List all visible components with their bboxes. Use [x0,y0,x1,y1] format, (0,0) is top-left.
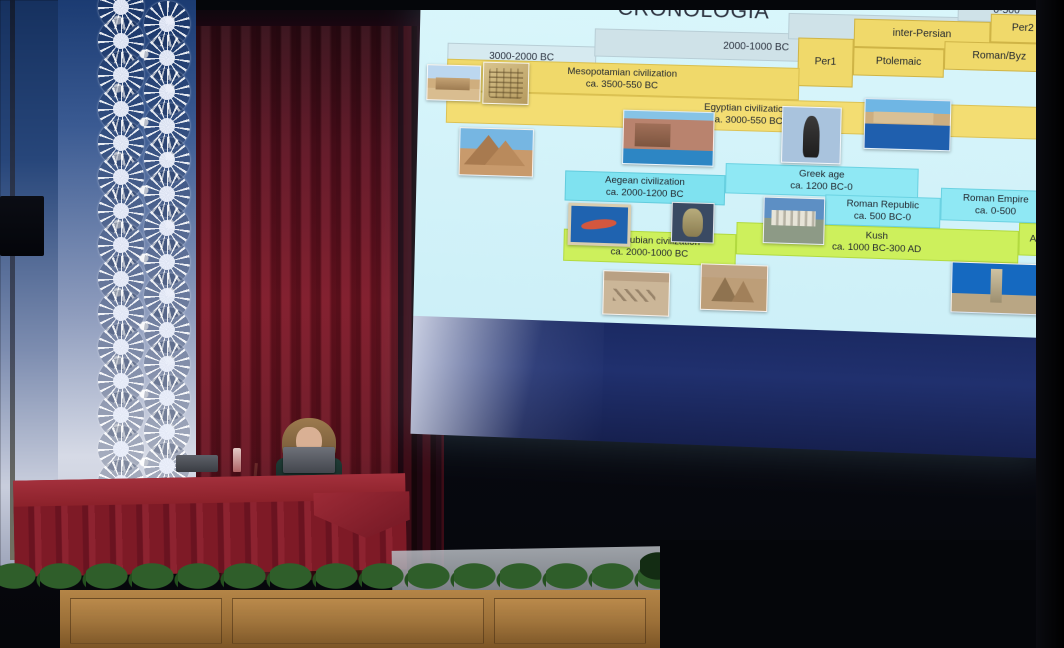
civ-date-aegean: ca. 2000-1200 BC [606,187,684,202]
parthenon-image [763,197,826,246]
wooden-stage-front [60,590,660,648]
nubian-bronze-statue-image [781,106,842,164]
presentation-slide: CRONOLOGÍA 3000-2000 BC 2000-1000 BC 100… [413,0,1056,338]
desert-excavation-image [602,270,670,317]
abu-simbel-cliff-image [622,110,715,167]
civ-date-kush: ca. 1000 BC-300 AD [832,241,922,256]
wood-panel-1 [70,598,222,644]
civ-date-mesopotamian: ca. 3500-550 BC [586,78,658,92]
projection-screen: CRONOLOGÍA 3000-2000 BC 2000-1000 BC 100… [410,0,1055,459]
meroe-pyramids-image [700,263,768,312]
civ-name-roman-empire: Roman Empire [963,192,1029,206]
minoan-dolphin-fresco-image [568,203,632,247]
decorative-lattice-column [92,0,200,480]
gold-funerary-mask-image [671,202,715,244]
water-bottle [233,448,241,472]
ceiling-speaker [0,196,44,256]
civ-date-early-nubian: ca. 2000-1000 BC [610,246,688,261]
period-cell-per1: Per1 [797,37,854,87]
second-laptop [176,455,218,472]
civ-date-greek-age: ca. 1200 BC-0 [790,180,853,194]
civ-band-greek-age: Greek age ca. 1200 BC-0 [725,163,919,199]
civ-date-egyptian: ca. 3000-550 BC [710,114,783,128]
right-dark-edge [1036,0,1064,648]
wall-trim [10,0,15,560]
period-cell-ptolemaic: Ptolemaic [853,47,944,78]
wood-panel-2 [232,598,484,644]
civ-name-kush: Kush [866,230,889,243]
laptop [283,447,335,473]
screen-lower-dark-area [410,316,1047,459]
civ-date-roman-republic: ca. 500 BC-0 [854,210,911,224]
civ-band-roman-republic: Roman Republic ca. 500 BC-0 [825,194,941,228]
ziggurat-ruins-image [426,64,481,101]
screen-glare [410,316,604,441]
cuneiform-tablet-image [482,62,529,105]
nile-temple-reflection-image [863,98,951,151]
civ-band-roman-empire: Roman Empire ca. 0-500 [940,188,1051,224]
civ-date-roman-empire: ca. 0-500 [975,205,1016,219]
civ-band-aegean: Aegean civilization ca. 2000-1200 BC [565,170,726,205]
wood-panel-3 [494,598,646,644]
aksum-stelae-image [951,261,1042,315]
civ-band-egyptian: Egyptian civilization ca. 3000-550 BC [446,91,1053,140]
auditorium-scene: CRONOLOGÍA 3000-2000 BC 2000-1000 BC 100… [0,0,1064,648]
stage-shadow-right [660,540,1064,648]
upper-dark-band [196,0,1064,10]
giza-pyramids-image [459,127,534,177]
